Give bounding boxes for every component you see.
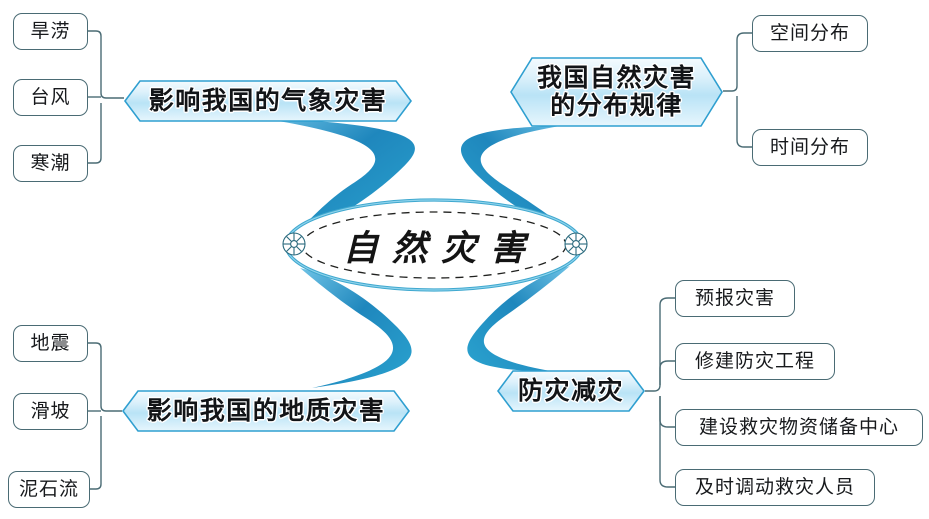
leaf-box-mobilize-personnel[interactable]: 及时调动救灾人员	[675, 469, 875, 506]
mind-map-canvas: 自然灾害 影响我国的气象灾害 我国自然灾害 的分布规律 影响我国的地质灾害 防灾…	[0, 0, 929, 519]
leaf-box-relief-supply-center[interactable]: 建设救灾物资储备中心	[675, 409, 923, 446]
branch-node-label: 我国自然灾害 的分布规律	[537, 64, 696, 120]
leaf-label: 地震	[30, 334, 70, 353]
leaf-label: 时间分布	[770, 138, 850, 157]
center-node[interactable]: 自然灾害	[286, 200, 582, 290]
leaf-label: 旱涝	[30, 22, 70, 41]
leaf-label: 滑坡	[30, 402, 70, 421]
branch-node-label: 防灾减灾	[518, 377, 624, 405]
leaf-label: 预报灾害	[695, 289, 775, 308]
leaf-label: 泥石流	[19, 480, 79, 499]
branch-node-geological[interactable]: 影响我国的地质灾害	[122, 390, 410, 432]
bracket-mitigation	[645, 298, 675, 487]
bracket-geological	[88, 343, 122, 489]
leaf-box-temporal-distribution[interactable]: 时间分布	[752, 129, 868, 166]
leaf-label: 寒潮	[30, 154, 70, 173]
branch-node-mitigation[interactable]: 防灾减灾	[497, 370, 645, 412]
leaf-label: 台风	[30, 88, 70, 107]
leaf-box-build-prevention-projects[interactable]: 修建防灾工程	[675, 343, 835, 380]
leaf-box-landslide[interactable]: 滑坡	[13, 393, 88, 430]
branch-node-label: 影响我国的气象灾害	[149, 87, 388, 115]
leaf-label: 修建防灾工程	[695, 352, 815, 371]
leaf-box-spatial-distribution[interactable]: 空间分布	[752, 15, 868, 52]
branch-node-label: 影响我国的地质灾害	[147, 397, 386, 425]
leaf-label: 空间分布	[770, 24, 850, 43]
bracket-distribution	[723, 33, 752, 147]
leaf-box-earthquake[interactable]: 地震	[13, 325, 88, 362]
leaf-box-taifeng[interactable]: 台风	[13, 79, 88, 116]
leaf-label: 及时调动救灾人员	[695, 478, 855, 497]
leaf-box-hanlao[interactable]: 旱涝	[13, 13, 88, 50]
leaf-label: 建设救灾物资储备中心	[699, 418, 899, 437]
leaf-box-forecast-disaster[interactable]: 预报灾害	[675, 280, 795, 317]
center-node-label: 自然灾害	[329, 220, 539, 271]
leaf-box-debris-flow[interactable]: 泥石流	[8, 471, 90, 508]
leaf-box-hanchao[interactable]: 寒潮	[13, 145, 88, 182]
branch-node-meteorological[interactable]: 影响我国的气象灾害	[124, 80, 412, 122]
bracket-meteorological	[88, 31, 124, 163]
branch-node-distribution[interactable]: 我国自然灾害 的分布规律	[510, 57, 723, 127]
